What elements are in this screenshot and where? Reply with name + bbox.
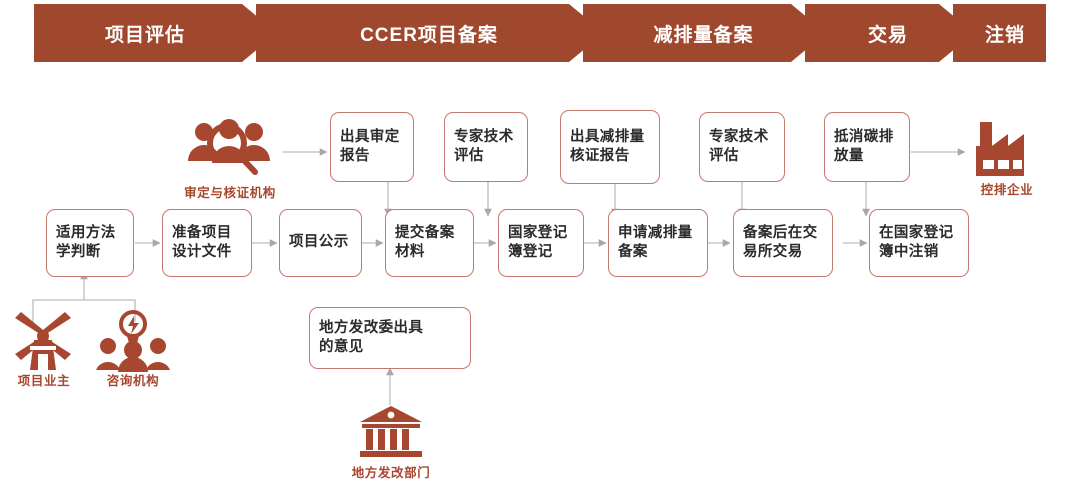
owner-label: 项目业主 <box>18 374 70 388</box>
consultant-label: 咨询机构 <box>107 374 159 388</box>
main-box-4-line1: 国家登记 <box>508 224 568 243</box>
upper-box-0-line2: 报告 <box>340 147 400 166</box>
windmill-icon <box>12 310 74 372</box>
banner-step-3: 交易 <box>824 4 952 62</box>
main-box-2[interactable]: 项目公示 <box>279 209 362 277</box>
consultant-caption: 咨询机构 <box>92 370 174 389</box>
owner-caption: 项目业主 <box>6 370 82 389</box>
opinion-box-line1: 地方发改委出具 <box>319 319 423 338</box>
flowchart-diagram: 项目评估 CCER项目备案 减排量备案 交易 注销 <box>0 0 1080 488</box>
people-lightbulb-icon <box>94 310 172 372</box>
banner-step-4-label: 注销 <box>985 20 1025 47</box>
main-box-4-line2: 簿登记 <box>508 243 568 262</box>
main-box-3-line2: 材料 <box>395 243 455 262</box>
main-box-0-line1: 适用方法 <box>56 224 116 243</box>
main-box-0[interactable]: 适用方法 学判断 <box>46 209 134 277</box>
main-box-5[interactable]: 申请减排量 备案 <box>608 209 708 277</box>
upper-box-0[interactable]: 出具审定 报告 <box>330 112 414 182</box>
main-box-6[interactable]: 备案后在交 易所交易 <box>733 209 833 277</box>
upper-box-4-line2: 放量 <box>834 147 894 166</box>
main-box-3-line1: 提交备案 <box>395 224 455 243</box>
upper-box-3-line1: 专家技术 <box>709 128 769 147</box>
main-box-6-line1: 备案后在交 <box>743 224 818 243</box>
upper-box-2[interactable]: 出具减排量 核证报告 <box>560 110 660 184</box>
main-box-5-line2: 备案 <box>618 243 693 262</box>
banner-step-1-label: CCER项目备案 <box>360 20 498 47</box>
factory-icon <box>970 120 1042 178</box>
main-box-7-line2: 簿中注销 <box>879 243 954 262</box>
process-banner: 项目评估 CCER项目备案 减排量备案 交易 注销 <box>34 4 1046 62</box>
local-ndrc-opinion-box[interactable]: 地方发改委出具 的意见 <box>309 307 471 369</box>
people-magnifier-icon <box>182 117 278 179</box>
opinion-box-line2: 的意见 <box>319 338 423 357</box>
upper-box-1[interactable]: 专家技术 评估 <box>444 112 528 182</box>
banner-step-1: CCER项目备案 <box>279 4 579 62</box>
banner-step-0: 项目评估 <box>34 4 256 62</box>
main-box-6-line2: 易所交易 <box>743 243 818 262</box>
upper-box-0-line1: 出具审定 <box>340 128 400 147</box>
local-ndrc-caption: 地方发改部门 <box>330 462 452 481</box>
upper-box-4-line1: 抵消碳排 <box>834 128 894 147</box>
main-box-1[interactable]: 准备项目 设计文件 <box>162 209 252 277</box>
upper-box-2-line1: 出具减排量 <box>570 128 645 147</box>
main-box-7[interactable]: 在国家登记 簿中注销 <box>869 209 969 277</box>
local-ndrc-label: 地方发改部门 <box>352 466 431 480</box>
main-box-4[interactable]: 国家登记 簿登记 <box>498 209 584 277</box>
upper-box-2-line2: 核证报告 <box>570 147 645 166</box>
upper-box-3[interactable]: 专家技术 评估 <box>699 112 785 182</box>
banner-step-2: 减排量备案 <box>606 4 801 62</box>
bank-icon <box>358 406 424 458</box>
validator-caption: 审定与核证机构 <box>160 182 300 201</box>
validator-label: 审定与核证机构 <box>184 186 276 200</box>
banner-step-3-label: 交易 <box>868 20 908 47</box>
main-box-0-line2: 学判断 <box>56 243 116 262</box>
upper-box-1-line2: 评估 <box>454 147 514 166</box>
banner-step-4: 注销 <box>964 4 1046 62</box>
enterprise-label: 控排企业 <box>981 183 1033 197</box>
upper-box-3-line2: 评估 <box>709 147 769 166</box>
main-box-5-line1: 申请减排量 <box>618 224 693 243</box>
upper-box-4[interactable]: 抵消碳排 放量 <box>824 112 910 182</box>
banner-step-2-label: 减排量备案 <box>653 20 753 47</box>
main-box-3[interactable]: 提交备案 材料 <box>385 209 474 277</box>
main-box-2-line1: 项目公示 <box>289 233 349 252</box>
upper-box-1-line1: 专家技术 <box>454 128 514 147</box>
main-box-1-line1: 准备项目 <box>172 224 232 243</box>
main-box-7-line1: 在国家登记 <box>879 224 954 243</box>
banner-step-0-label: 项目评估 <box>105 20 185 47</box>
main-box-1-line2: 设计文件 <box>172 243 232 262</box>
enterprise-caption: 控排企业 <box>961 179 1053 198</box>
